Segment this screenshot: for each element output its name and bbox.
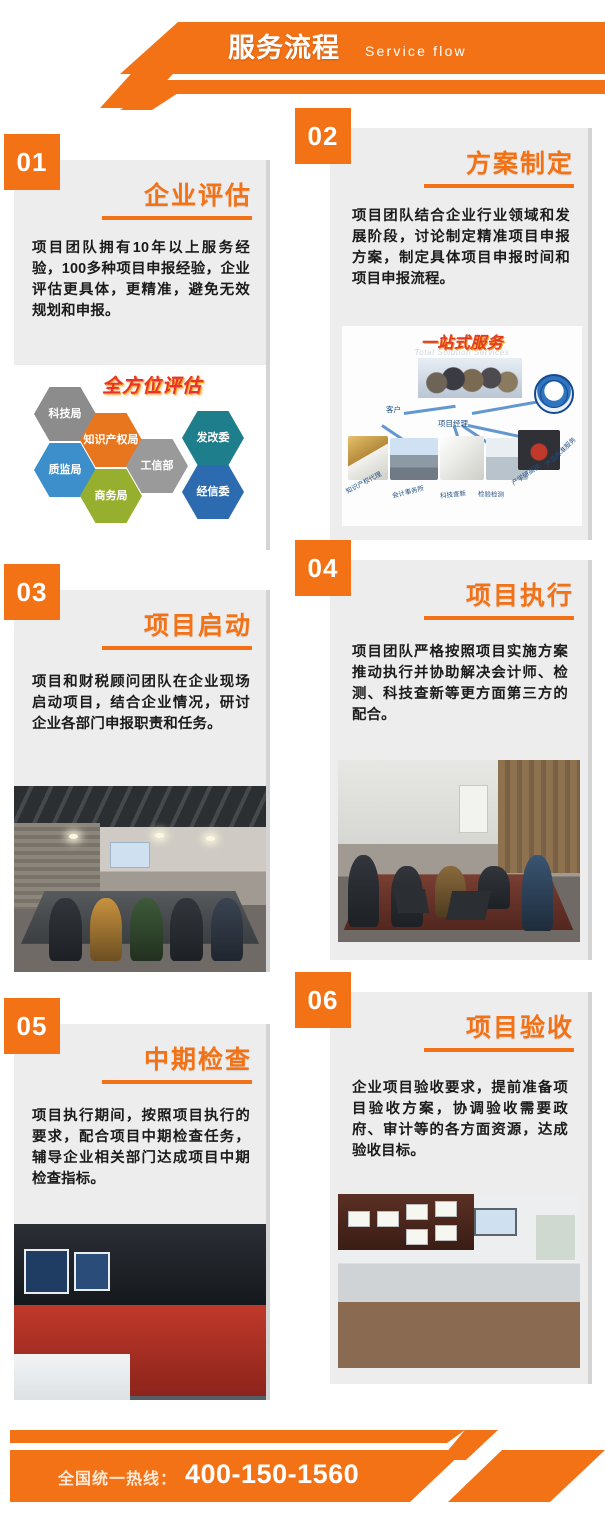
service-node-customer: 客户 (386, 404, 401, 415)
service-node-pm: 项目经理 (438, 418, 468, 429)
step-title: 项目验收 (466, 1008, 574, 1051)
step-number-badge: 01 (4, 134, 60, 190)
hexagon-diagram: 全方位评估 科技局 知识产权局 质监局 工信部 商务局 发改委 经信委 (14, 365, 266, 550)
photo-conference-room (14, 786, 266, 972)
step-description: 企业项目验收要求，提前准备项目验收方案，协调验收需要政府、审计等的各方面资源，达… (352, 1078, 568, 1162)
title-underline (102, 216, 252, 220)
service-flow-poster: 服务流程 Service flow 01 企业评估 项目团队拥有10年以上服务经… (0, 0, 605, 1538)
service-leaf-label: 会计事务所 (391, 482, 425, 500)
person (49, 898, 82, 961)
wall-certificate (435, 1225, 457, 1241)
step-description: 项目团队结合企业行业领域和发展阶段，讨论制定精准项目申报方案，制定具体项目申报时… (352, 206, 570, 290)
hex-label: 工信部 (141, 460, 174, 472)
step-number-badge: 03 (4, 564, 60, 620)
page-header: 服务流程 Service flow (0, 0, 605, 108)
step-number-badge: 05 (4, 998, 60, 1054)
hex-node-jingxin: 经信委 (182, 465, 244, 519)
hotline-label: 全国统一热线： (58, 1465, 177, 1489)
person (348, 855, 379, 928)
step-description: 项目团队拥有10年以上服务经验，100多种项目申报经验，企业评估更具体，更精准，… (32, 238, 250, 322)
page-subtitle: Service flow (365, 38, 467, 64)
title-underline (424, 1048, 574, 1052)
step-description: 项目和财税顾问团队在企业现场启动项目，结合企业情况，研讨企业各部门申报职责和任务… (32, 672, 250, 735)
green-board (536, 1215, 575, 1260)
ceiling (14, 786, 266, 827)
header-band (120, 22, 605, 74)
ceiling-lamp (155, 833, 164, 838)
step-number-badge: 06 (295, 972, 351, 1028)
arrow (404, 405, 456, 415)
footer-stripe (10, 1430, 465, 1443)
wall-certificate (435, 1201, 457, 1217)
wall-certificate (406, 1229, 428, 1245)
title-underline (102, 1080, 252, 1084)
hex-label: 知识产权局 (84, 434, 139, 446)
step-title: 项目执行 (466, 576, 574, 619)
hex-label: 经信委 (197, 486, 230, 498)
step-card-03[interactable]: 03 项目启动 项目和财税顾问团队在企业现场启动项目，结合企业情况，研讨企业各部… (14, 590, 266, 972)
service-seal-icon (534, 374, 574, 414)
whiteboard (110, 842, 150, 868)
step-number-badge: 02 (295, 108, 351, 164)
step-title: 中期检查 (144, 1040, 252, 1083)
hex-node-fagai: 发改委 (182, 411, 244, 465)
step-title: 方案制定 (466, 144, 574, 187)
step-title: 企业评估 (144, 176, 252, 219)
header-stripe (148, 80, 605, 94)
person (130, 898, 163, 961)
wall-certificate (377, 1211, 399, 1227)
step-number-badge: 04 (295, 540, 351, 596)
projector-screen (474, 1208, 518, 1236)
wall-certificate (406, 1204, 428, 1220)
page-title: 服务流程 (228, 28, 340, 68)
service-diagram-photo (418, 358, 522, 398)
service-leaf-label: 检验检测 (478, 488, 504, 499)
title-underline (424, 184, 574, 188)
hexagon-diagram-title: 全方位评估 (102, 371, 202, 398)
ac-unit (459, 785, 488, 832)
page-footer: 全国统一热线： 400-150-1560 (0, 1410, 605, 1538)
step-description: 项目团队严格按照项目实施方案推动执行并协助解决会计师、检测、科技查新等更方面第三… (352, 642, 568, 726)
title-underline (424, 616, 574, 620)
service-leaf-label: 科技查新 (439, 487, 466, 500)
service-diagram: 一站式服务 Total Solution Services 客户 项目经理 知识… (342, 326, 582, 526)
step-title: 项目启动 (144, 606, 252, 649)
service-thumb-accounting (390, 438, 438, 480)
arrow (472, 399, 545, 415)
laptop (446, 891, 491, 920)
photo-showroom-visit (14, 1224, 266, 1400)
step-card-02[interactable]: 02 方案制定 项目团队结合企业行业领域和发展阶段，讨论制定精准项目申报方案，制… (330, 128, 588, 540)
person (170, 898, 203, 961)
service-thumb-search (440, 436, 484, 480)
hex-label: 科技局 (49, 408, 82, 420)
step-card-05[interactable]: 05 中期检查 项目执行期间，按照项目执行的要求，配合项目中期检查任务，辅导企业… (14, 1024, 266, 1400)
hex-label: 商务局 (95, 490, 128, 502)
title-underline (102, 646, 252, 650)
person (211, 898, 244, 961)
photo-meeting-laptops (338, 760, 580, 942)
step-description: 项目执行期间，按照项目执行的要求，配合项目中期检查任务，辅导企业相关部门达成项目… (32, 1106, 250, 1190)
ceiling-lamp (206, 836, 215, 841)
counter (14, 1354, 130, 1400)
hex-label: 质监局 (49, 464, 82, 476)
wall-certificate (348, 1211, 370, 1227)
hotline-number[interactable]: 400-150-1560 (185, 1459, 359, 1490)
laptop (394, 889, 430, 913)
person (90, 898, 123, 961)
person (522, 855, 553, 931)
hex-label: 发改委 (197, 432, 230, 444)
step-card-04[interactable]: 04 项目执行 项目团队严格按照项目实施方案推动执行并协助解决会计师、检测、科技… (330, 560, 588, 960)
display-screen (74, 1252, 109, 1291)
display-screen (24, 1249, 69, 1295)
step-card-06[interactable]: 06 项目验收 企业项目验收要求，提前准备项目验收方案，协调验收需要政府、审计等… (330, 992, 588, 1384)
person (338, 1309, 580, 1368)
photo-certificate-room (338, 1194, 580, 1368)
step-card-01[interactable]: 01 企业评估 项目团队拥有10年以上服务经验，100多种项目申报经验，企业评估… (14, 160, 266, 550)
service-diagram-subtitle: Total Solution Services (415, 348, 510, 357)
